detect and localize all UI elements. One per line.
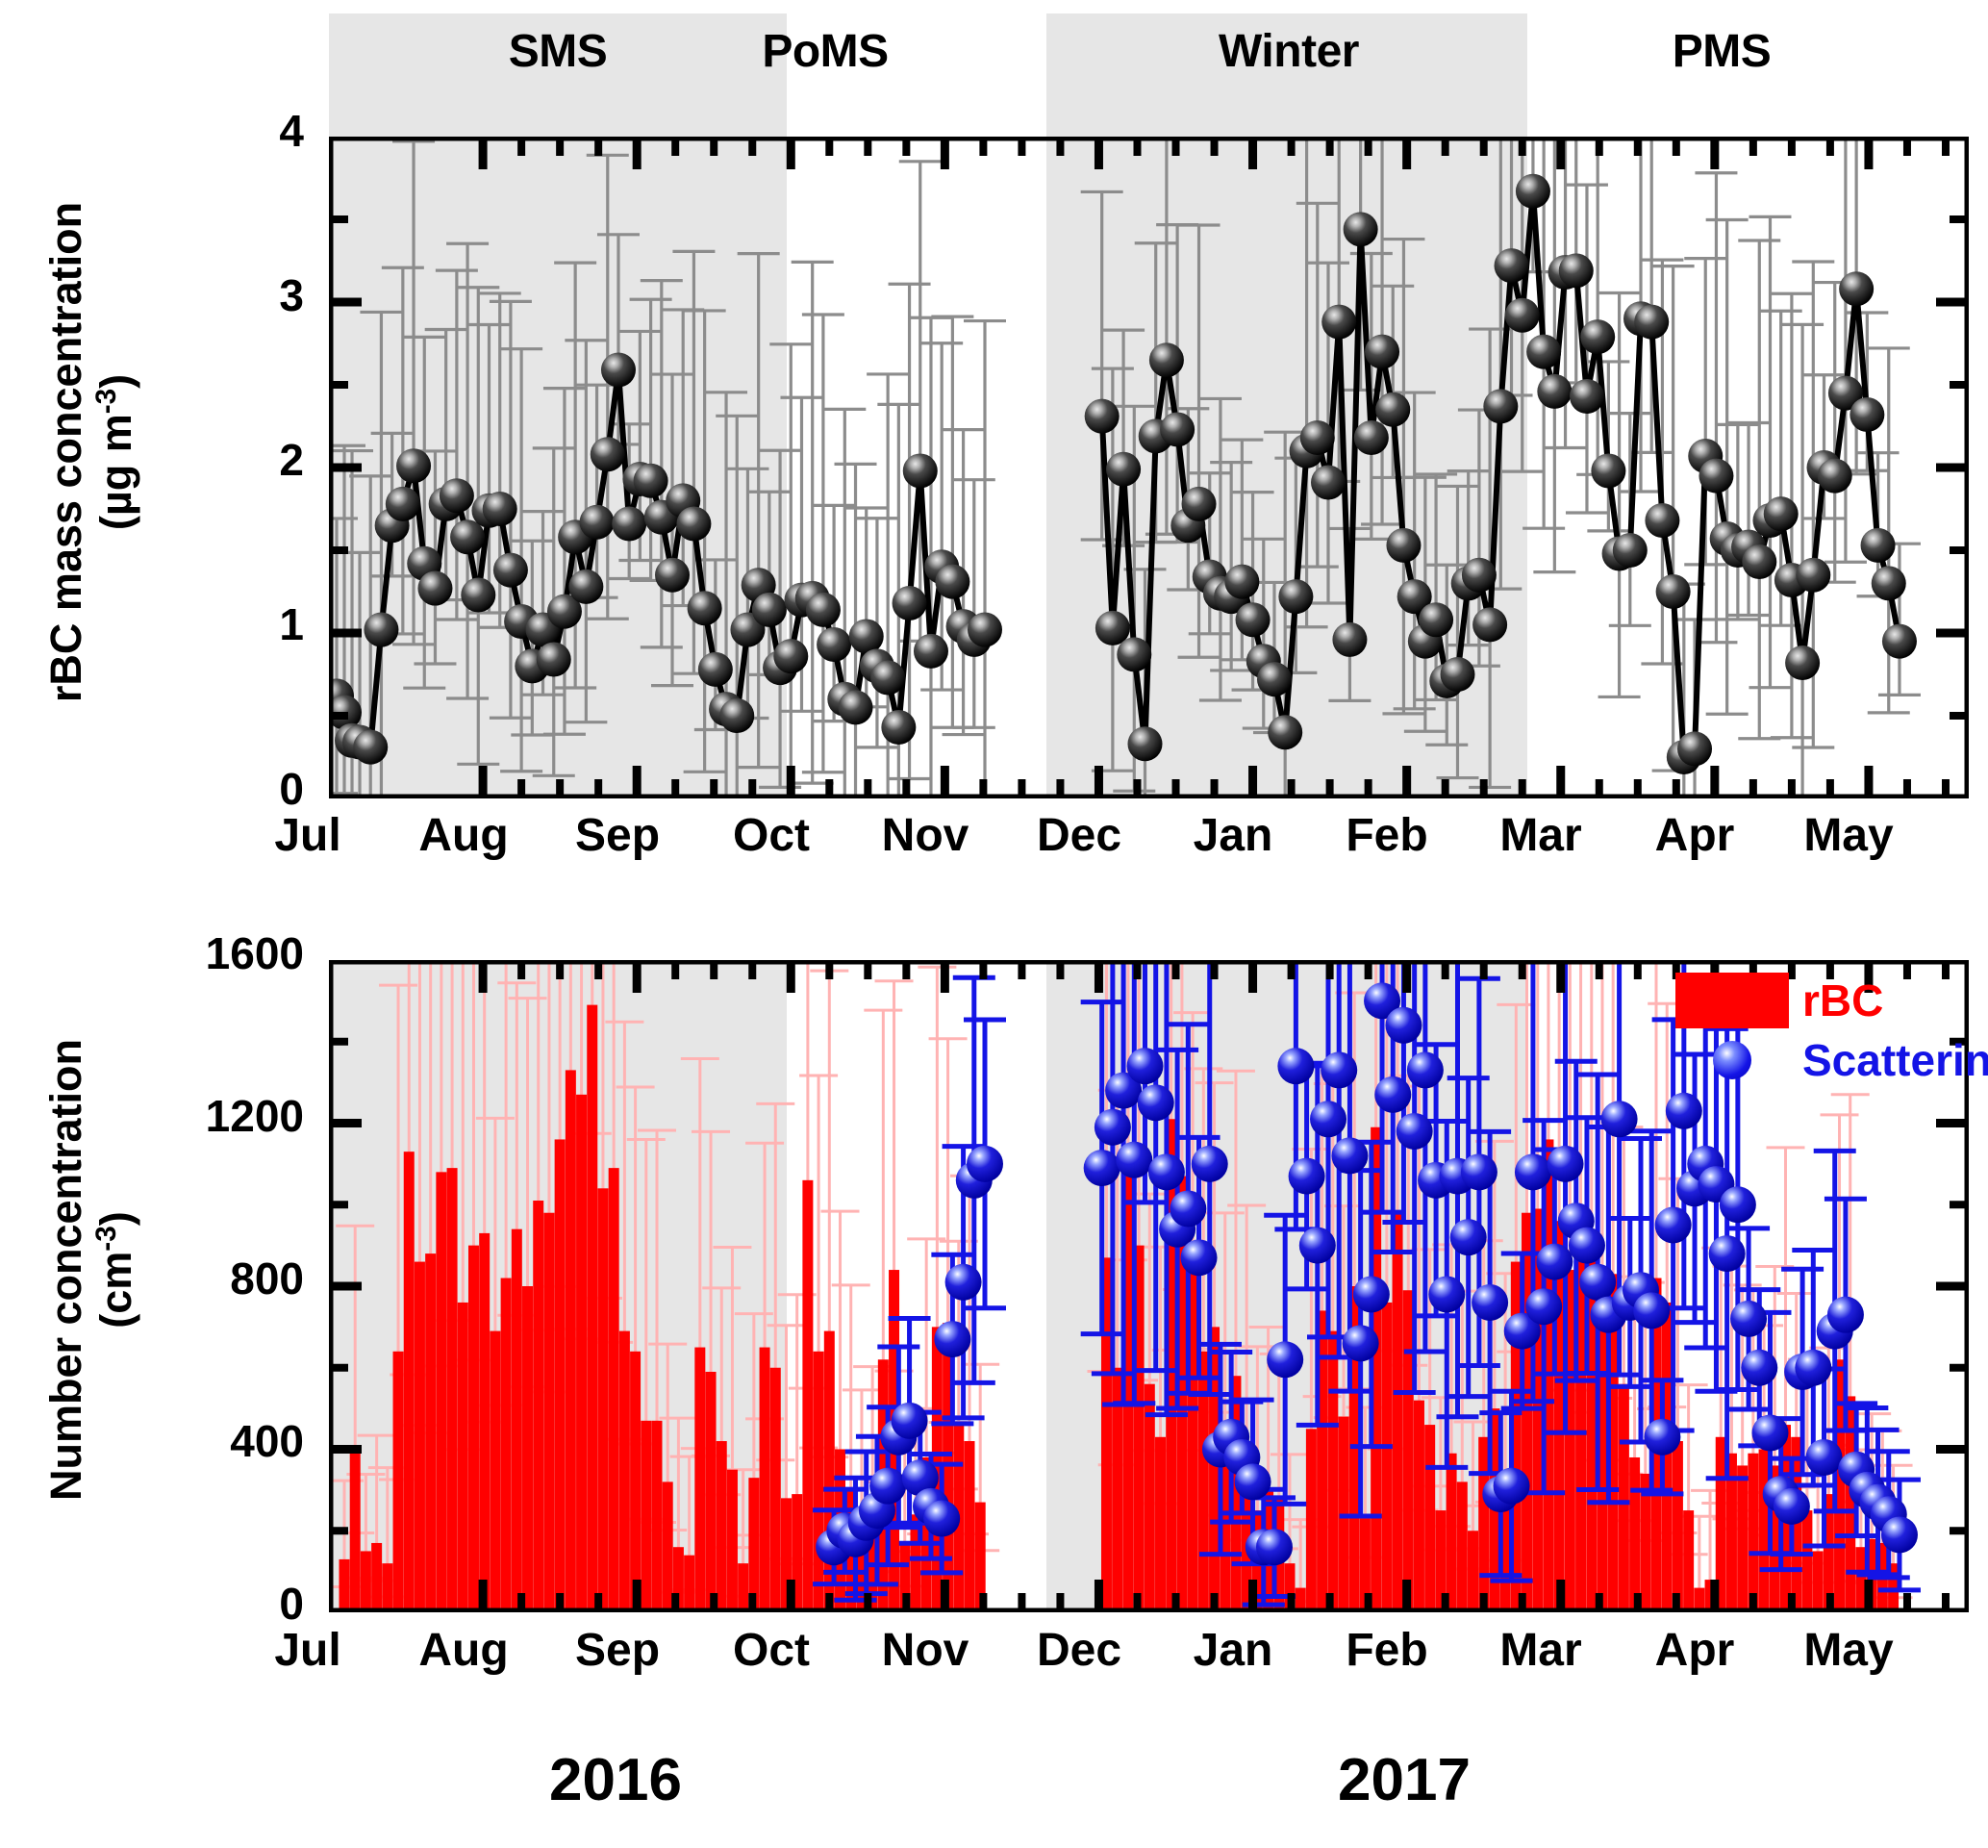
mass-marker [537, 643, 571, 677]
mass-marker [806, 593, 841, 627]
scattering-marker [1633, 1292, 1670, 1329]
mass-marker [773, 639, 808, 673]
rbc-bar [447, 1168, 458, 1612]
mass-marker [1236, 602, 1271, 637]
scattering-marker [1407, 1051, 1444, 1088]
mass-marker [493, 553, 528, 588]
scattering-marker [1148, 1153, 1185, 1190]
scattering-marker [1374, 1076, 1411, 1113]
rbc-bar [1306, 1429, 1317, 1612]
scattering-marker [1472, 1284, 1508, 1321]
panel-b-ytick-1600: 1600 [123, 931, 304, 975]
season-label-poms: PoMS [691, 29, 960, 75]
mass-marker [1591, 453, 1625, 488]
panel-b-ytick-400: 400 [123, 1419, 304, 1463]
mass-marker [1182, 487, 1217, 521]
rbc-bar [340, 1559, 350, 1612]
panel-a-ytick-3: 3 [221, 273, 304, 317]
mass-marker [1344, 212, 1378, 246]
scattering-marker [1267, 1341, 1303, 1378]
mass-marker [1365, 335, 1399, 369]
scattering-marker [1881, 1516, 1918, 1553]
mass-marker [417, 571, 452, 606]
mass-marker [386, 487, 420, 521]
scattering-marker [1289, 1158, 1325, 1195]
panel-a-xtick-may: May [1752, 813, 1945, 859]
rbc-bar [361, 1551, 371, 1612]
mass-marker [1645, 503, 1679, 538]
scattering-marker [1321, 1051, 1357, 1088]
legend-label-scattering: Scattering [1802, 1038, 1988, 1082]
scattering-marker [1256, 1529, 1293, 1565]
mass-marker [1861, 528, 1896, 563]
rbc-bar [1737, 1465, 1748, 1612]
scattering-marker [1084, 1150, 1120, 1186]
mass-marker [1375, 392, 1410, 427]
scattering-marker [1795, 1350, 1831, 1386]
scattering-marker [967, 1146, 1003, 1182]
rbc-bar [458, 1303, 468, 1612]
rbc-bar [555, 1139, 566, 1612]
rbc-bar [738, 1563, 748, 1612]
scattering-marker [1536, 1244, 1573, 1280]
rbc-bar [1629, 1457, 1640, 1612]
rbc-bar [1748, 1454, 1758, 1612]
mass-marker [1526, 335, 1561, 369]
scattering-marker [1579, 1264, 1616, 1301]
mass-marker [1570, 379, 1604, 414]
scattering-marker [934, 1321, 970, 1357]
rbc-bar [479, 1233, 490, 1612]
panel-b-xtick-may: May [1752, 1628, 1945, 1674]
mass-marker [1278, 579, 1313, 614]
scattering-marker [1569, 1228, 1605, 1264]
rbc-bar [1673, 1441, 1683, 1612]
panel-a-ytick-4: 4 [221, 109, 304, 153]
figure-root: SMS PoMS Winter PMS rBC mass concentrati… [0, 0, 1988, 1848]
rbc-bar [1447, 1454, 1457, 1612]
scattering-marker [1353, 1276, 1390, 1312]
mass-marker [1311, 465, 1346, 499]
rbc-bar [468, 1246, 479, 1612]
rbc-bar [543, 1213, 554, 1612]
mass-marker [688, 591, 722, 625]
mass-marker [1839, 271, 1874, 306]
mass-marker [849, 619, 884, 653]
mass-marker [881, 710, 916, 745]
mass-marker [364, 613, 398, 647]
mass-marker [1537, 374, 1572, 409]
mass-marker [461, 577, 495, 612]
rbc-bar [1478, 1437, 1489, 1612]
rbc-bar [1468, 1531, 1478, 1612]
scattering-marker [869, 1468, 906, 1505]
rbc-bar [1327, 1331, 1338, 1612]
rbc-bar [814, 1352, 824, 1612]
mass-marker [1742, 544, 1776, 579]
mass-marker [580, 505, 615, 540]
mass-marker [1850, 397, 1884, 432]
rbc-bar [501, 1278, 512, 1612]
mass-marker [1321, 305, 1356, 340]
legend-label-rbc: rBC [1802, 978, 1883, 1023]
scattering-marker [1428, 1276, 1465, 1312]
year-label-2016: 2016 [471, 1751, 760, 1810]
mass-marker [1106, 452, 1141, 487]
mass-marker [591, 437, 625, 471]
rbc-bar [1145, 1384, 1155, 1612]
mass-marker [634, 464, 668, 498]
mass-marker [839, 690, 873, 724]
panel-a-plot [329, 137, 1969, 798]
scattering-marker [1751, 1415, 1788, 1452]
rbc-bar [1813, 1551, 1824, 1612]
rbc-bar [1381, 1303, 1392, 1612]
rbc-bar [727, 1470, 738, 1612]
rbc-bar [533, 1201, 543, 1612]
rbc-bar [1801, 1510, 1812, 1612]
rbc-bar [490, 1331, 500, 1612]
mass-marker [1882, 624, 1917, 659]
rbc-bar [512, 1229, 522, 1612]
mass-marker [612, 506, 646, 541]
panel-a-ytick-2: 2 [221, 438, 304, 482]
mass-marker [903, 453, 938, 488]
mass-marker [1268, 715, 1302, 749]
mass-marker [1462, 558, 1497, 593]
mass-marker [968, 613, 1002, 647]
scattering-marker [1095, 1109, 1131, 1146]
rbc-bar [350, 1454, 361, 1612]
mass-marker [1656, 574, 1691, 609]
mass-marker [655, 558, 690, 593]
scattering-marker [923, 1501, 960, 1537]
rbc-bar [1403, 1290, 1414, 1612]
scattering-marker [1515, 1153, 1551, 1190]
rbc-bar [597, 1188, 608, 1612]
mass-marker [817, 627, 851, 662]
legend-bar-swatch-icon [1675, 973, 1789, 1028]
rbc-bar [1424, 1425, 1435, 1612]
mass-marker [1419, 602, 1453, 637]
scattering-marker [1343, 1325, 1379, 1361]
mass-marker [719, 698, 754, 733]
scattering-marker [1235, 1463, 1271, 1500]
rbc-bar [566, 1070, 576, 1612]
rbc-bar [371, 1543, 382, 1612]
rbc-bar [1683, 1510, 1694, 1612]
rbc-bar [694, 1348, 705, 1612]
rbc-bar [706, 1372, 717, 1612]
mass-marker [1818, 459, 1852, 494]
mass-marker [353, 730, 388, 765]
mass-marker [1559, 253, 1594, 288]
rbc-bar [641, 1421, 651, 1612]
mass-marker [440, 478, 474, 513]
scattering-marker [1181, 1239, 1218, 1276]
panel-b-ytick-800: 800 [123, 1256, 304, 1301]
rbc-bar [415, 1262, 425, 1612]
scattering-marker [1397, 1113, 1433, 1150]
mass-marker [1085, 399, 1120, 434]
mass-marker [1300, 420, 1335, 455]
rbc-bar [425, 1253, 436, 1612]
rbc-bar [1619, 1384, 1629, 1612]
mass-marker [752, 593, 787, 627]
scattering-marker [1170, 1190, 1206, 1227]
rbc-bar [964, 1441, 974, 1612]
mass-marker [1580, 319, 1615, 354]
scattering-marker [1827, 1297, 1864, 1333]
rbc-bar [748, 1478, 759, 1612]
mass-marker [601, 353, 636, 388]
scattering-marker [1299, 1228, 1336, 1264]
legend-item-scattering[interactable]: Scattering [1675, 1033, 1988, 1087]
season-label-sms: SMS [423, 29, 692, 75]
mass-marker [1127, 726, 1162, 761]
legend-item-rbc[interactable]: rBC [1675, 974, 1988, 1027]
mass-marker [1440, 657, 1474, 692]
rbc-bar [802, 1180, 813, 1612]
rbc-bar [770, 1368, 781, 1612]
scattering-marker [1138, 1084, 1174, 1121]
mass-marker [1483, 389, 1518, 423]
rbc-bar [630, 1352, 641, 1612]
scattering-marker [1385, 1007, 1422, 1044]
panel-a-ytick-0: 0 [221, 767, 304, 811]
rbc-bar [684, 1556, 694, 1612]
mass-marker [1117, 637, 1151, 671]
rbc-bar [404, 1152, 415, 1612]
mass-marker [1149, 342, 1184, 377]
mass-marker [1516, 174, 1550, 209]
mass-marker [893, 586, 927, 620]
season-label-winter: Winter [1145, 29, 1433, 75]
scattering-marker [1116, 1142, 1152, 1178]
mass-marker [1354, 420, 1389, 455]
mass-marker [1224, 565, 1259, 599]
rbc-bar [1198, 1352, 1209, 1612]
scattering-marker [1494, 1468, 1530, 1505]
mass-marker [1332, 622, 1367, 657]
scattering-marker [1806, 1439, 1843, 1476]
scattering-marker [1730, 1301, 1767, 1337]
mass-marker [1257, 662, 1292, 696]
mass-marker [935, 565, 969, 599]
rbc-bar [382, 1563, 392, 1612]
panel-a-ylabel: rBC mass concentration(µg m-3) [42, 101, 141, 803]
panel-b-ytick-0: 0 [123, 1582, 304, 1626]
rbc-bar [1393, 1213, 1403, 1612]
mass-marker [1495, 248, 1529, 283]
rbc-bar [663, 1481, 673, 1612]
mass-marker [1764, 496, 1799, 531]
year-label-2017: 2017 [1260, 1751, 1548, 1810]
scattering-marker [1331, 1137, 1368, 1174]
mass-marker [1472, 607, 1507, 642]
panel-a-ytick-1: 1 [221, 602, 304, 646]
rbc-bar [1759, 1450, 1770, 1613]
mass-marker [1796, 558, 1830, 593]
mass-marker [483, 492, 517, 526]
scattering-marker [1450, 1219, 1487, 1255]
scattering-marker [1192, 1146, 1228, 1182]
scattering-marker [1126, 1048, 1163, 1084]
mass-marker [698, 652, 733, 687]
rbc-bar [717, 1441, 727, 1612]
mass-marker [1505, 298, 1540, 333]
mass-marker [1677, 731, 1712, 766]
scattering-marker [1548, 1146, 1584, 1182]
rbc-bar [1155, 1437, 1166, 1612]
mass-marker [914, 634, 948, 669]
rbc-bar [576, 1095, 587, 1612]
mass-marker [1386, 528, 1421, 563]
scattering-marker [1644, 1419, 1680, 1456]
legend-circle-swatch-icon [1713, 1041, 1751, 1079]
mass-marker [870, 660, 905, 695]
scattering-marker [945, 1264, 982, 1301]
rbc-bar [619, 1331, 630, 1612]
rbc-bar [652, 1421, 663, 1612]
rbc-bar [436, 1172, 446, 1612]
mass-marker [1613, 533, 1648, 568]
rbc-bar [393, 1352, 404, 1612]
rbc-bar [760, 1348, 770, 1612]
panel-b-ytick-1200: 1200 [123, 1094, 304, 1138]
legend: rBC Scattering [1675, 974, 1988, 1093]
rbc-bar [1457, 1481, 1468, 1612]
mass-marker [1160, 412, 1195, 446]
rbc-bar [609, 1168, 619, 1612]
scattering-marker [1461, 1153, 1497, 1190]
rbc-bar [1414, 1401, 1424, 1612]
scattering-marker [1774, 1488, 1810, 1525]
scattering-marker [1655, 1206, 1692, 1243]
mass-marker [1872, 566, 1906, 600]
rbc-bar [587, 1005, 597, 1612]
season-label-pms: PMS [1577, 29, 1866, 75]
scattering-marker [1709, 1235, 1746, 1272]
mass-marker [396, 448, 431, 483]
mass-marker [1785, 646, 1820, 680]
scattering-marker [1525, 1288, 1562, 1325]
mass-marker [1699, 459, 1733, 494]
scattering-marker [1277, 1048, 1314, 1084]
mass-marker [676, 506, 711, 541]
scattering-marker [1310, 1101, 1346, 1137]
mass-marker [1634, 305, 1669, 340]
scattering-marker [892, 1403, 928, 1439]
legend-dot-swatch-wrap [1675, 1041, 1789, 1079]
scattering-marker [1720, 1186, 1756, 1223]
rbc-bar [522, 1286, 533, 1612]
scattering-marker [1601, 1101, 1638, 1137]
scattering-marker [1666, 1093, 1702, 1129]
mass-marker [568, 570, 603, 604]
scattering-marker [1741, 1350, 1777, 1386]
